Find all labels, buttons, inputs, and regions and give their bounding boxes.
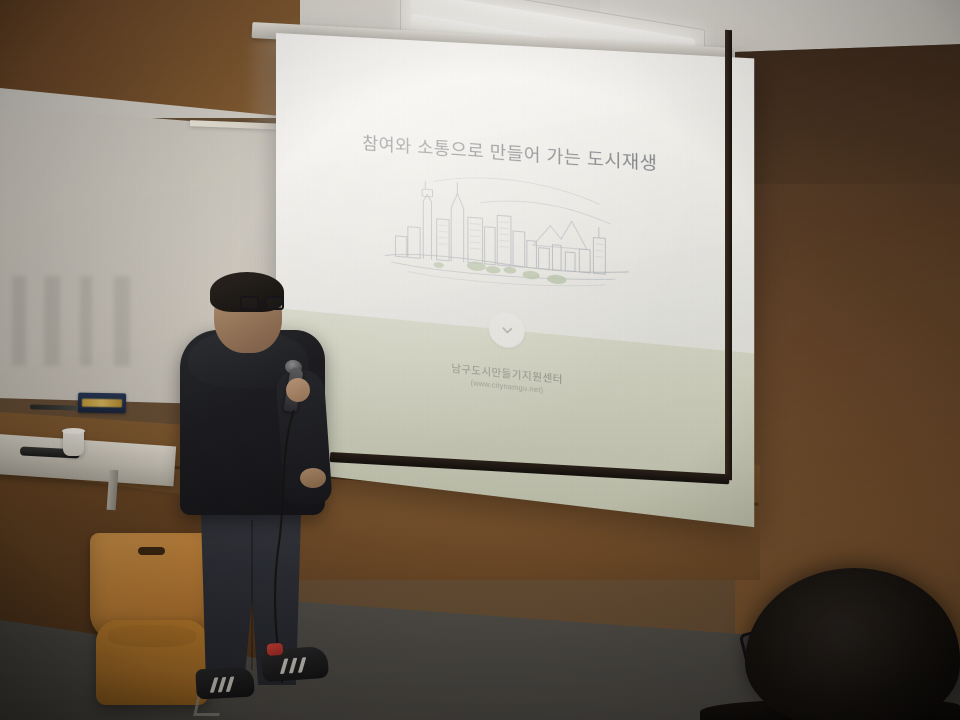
city-skyline-sketch	[377, 161, 641, 301]
photo-scene: 참여와 소통으로 만들어 가는 도시재생	[0, 0, 960, 720]
slide-upper-section: 참여와 소통으로 만들어 가는 도시재생	[276, 33, 754, 354]
shoe-red-accent	[267, 643, 284, 656]
wall-plaque	[78, 393, 126, 414]
screen-right-edge	[725, 30, 732, 480]
shoe-stripe	[280, 658, 288, 674]
presenter-shoe-left	[195, 667, 254, 700]
marker-pen	[30, 404, 78, 410]
wooden-chair-waist	[108, 625, 196, 647]
presenter-hand-holding-mic	[286, 378, 310, 402]
chair-handle-slot	[138, 547, 165, 555]
shoe-stripe	[298, 657, 306, 673]
presenter-eyeglasses	[240, 296, 286, 311]
eyeglass-lens-right	[265, 296, 284, 310]
right-wall-upper-band	[735, 44, 960, 184]
wall-plaque-lettering	[82, 399, 122, 408]
paper-cup-rim	[62, 428, 85, 434]
whiteboard-residual-marks	[4, 276, 194, 366]
presenter-shoe-right	[261, 646, 329, 683]
shoe-stripe	[226, 676, 235, 691]
slide-organization-name: 남구도시만들기지원센터	[451, 360, 563, 387]
shoe-stripe	[289, 658, 297, 674]
presenter-lower-hand	[300, 468, 326, 488]
presenter-jeans-seam	[251, 520, 253, 670]
eyeglass-lens-left	[240, 296, 259, 310]
